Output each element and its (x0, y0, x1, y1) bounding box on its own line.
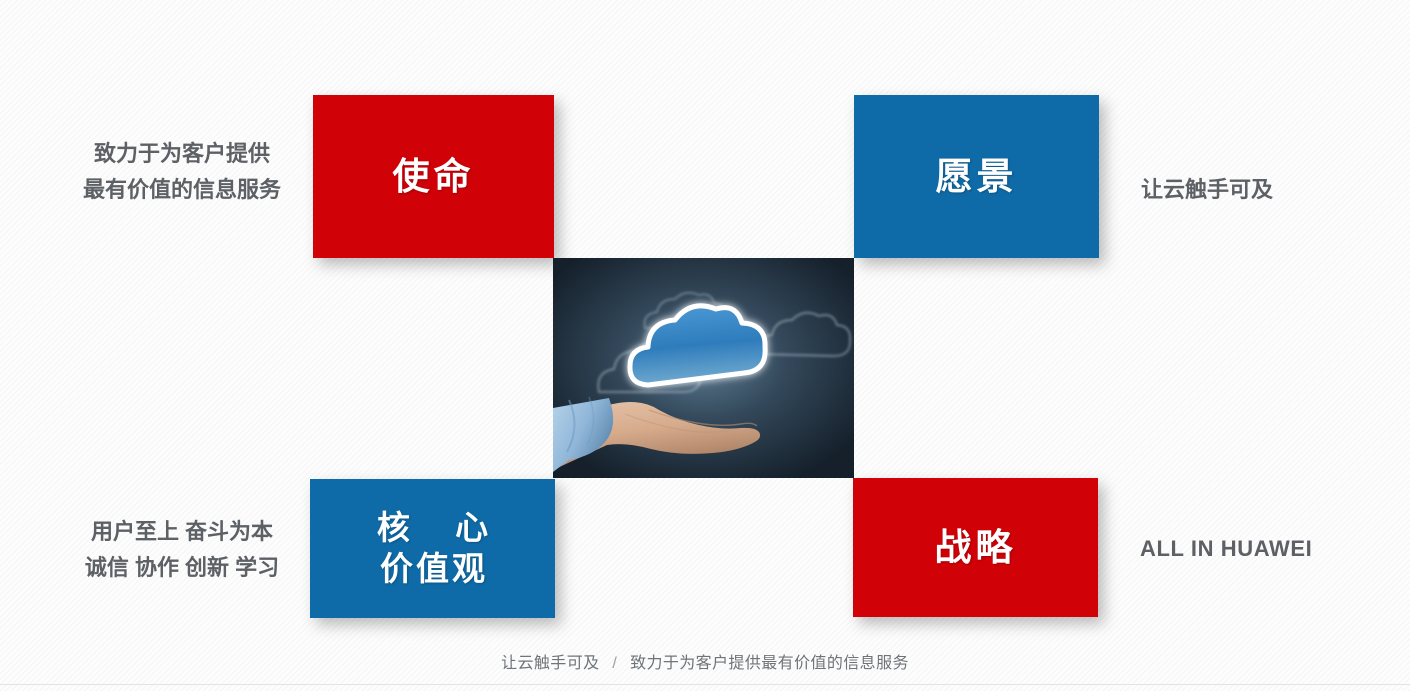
core-values-label-line-1: 核 心 (359, 508, 506, 549)
footer-caption-separator: / (604, 655, 625, 672)
core-values-caption-line-1: 用户至上 奋斗为本 (52, 514, 312, 550)
core-values-caption-line-2: 诚信 协作 创新 学习 (52, 550, 312, 586)
core-values-panel[interactable]: 核 心 价值观 (310, 479, 555, 618)
core-values-panel-label: 核 心 价值观 (359, 508, 506, 590)
mission-caption-line-1: 致力于为客户提供 (52, 136, 312, 172)
vision-panel[interactable]: 愿景 (854, 95, 1099, 258)
strategy-panel[interactable]: 战略 (853, 478, 1098, 617)
footer-caption: 让云触手可及 / 致力于为客户提供最有价值的信息服务 (0, 649, 1410, 673)
footer-caption-right: 致力于为客户提供最有价值的信息服务 (630, 655, 909, 672)
vision-caption: 让云触手可及 (1141, 172, 1273, 208)
slide-canvas: 致力于为客户提供 最有价值的信息服务 使命 愿景 让云触手可及 (0, 0, 1410, 691)
cloud-in-hand-photo (553, 258, 854, 478)
mission-caption-line-2: 最有价值的信息服务 (52, 172, 312, 208)
mission-panel-label: 使命 (393, 154, 475, 200)
core-values-caption: 用户至上 奋斗为本 诚信 协作 创新 学习 (52, 514, 312, 585)
strategy-panel-label: 战略 (935, 525, 1017, 571)
strategy-caption-line-1: ALL IN HUAWEI (1140, 531, 1312, 567)
bottom-divider (0, 684, 1410, 685)
core-values-label-line-2: 价值观 (359, 549, 506, 590)
vision-caption-line-1: 让云触手可及 (1141, 172, 1273, 208)
footer-caption-left: 让云触手可及 (501, 655, 599, 672)
mission-caption: 致力于为客户提供 最有价值的信息服务 (52, 136, 312, 207)
mission-panel[interactable]: 使命 (313, 95, 554, 258)
vision-panel-label: 愿景 (936, 154, 1018, 200)
strategy-caption: ALL IN HUAWEI (1140, 531, 1312, 567)
